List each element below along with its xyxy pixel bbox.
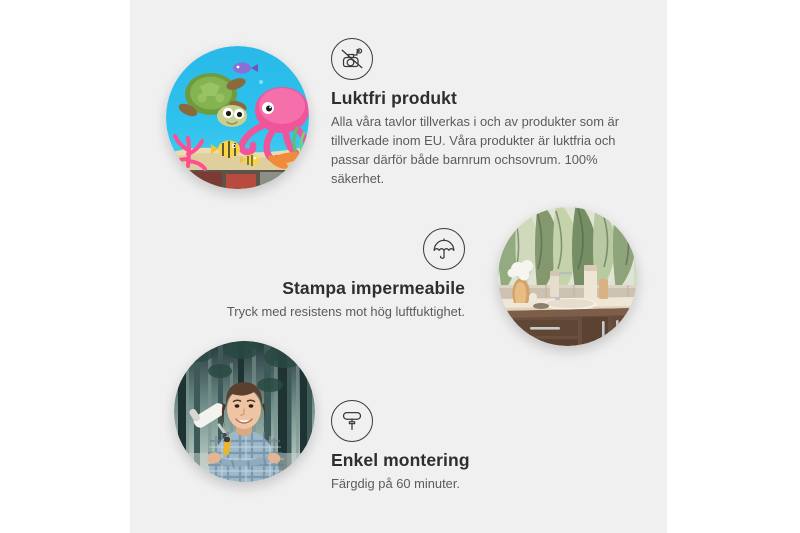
feature-title: Stampa impermeabile (205, 278, 465, 299)
no-fragrance-spray-bottle-icon (331, 38, 373, 80)
bathroom-tropical-wallpaper-photo (498, 207, 637, 346)
feature-odor-free: Luktfri produkt Alla våra tavlor tillver… (331, 38, 631, 189)
feature-body: Färgdig på 60 minuter. (331, 475, 611, 494)
feature-title: Enkel montering (331, 450, 611, 471)
underwater-cartoon-scene-photo (166, 46, 309, 189)
feature-waterproof: Stampa impermeabile Tryck med resistens … (205, 228, 465, 322)
feature-title: Luktfri produkt (331, 88, 631, 109)
paint-roller-icon (331, 400, 373, 442)
promo-infographic: Luktfri produkt Alla våra tavlor tillver… (0, 0, 800, 533)
feature-body: Tryck med resistens mot hög luftfuktighe… (205, 303, 465, 322)
woman-with-paint-roller-photo (174, 341, 315, 482)
feature-body: Alla våra tavlor tillverkas i och av pro… (331, 113, 631, 189)
umbrella-icon (423, 228, 465, 270)
feature-easy-mounting: Enkel montering Färgdig på 60 minuter. (331, 400, 611, 494)
